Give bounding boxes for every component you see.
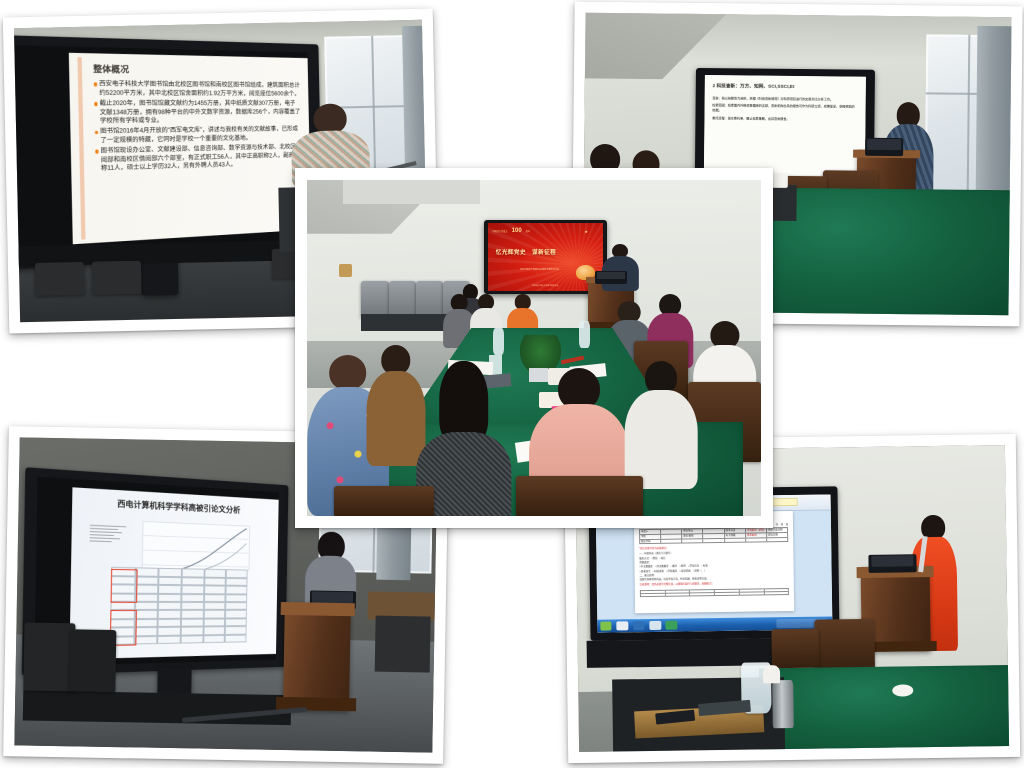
slide-footer: 西安电子科技大学图书馆党总支 [488,284,603,287]
ceiling-soffit [343,180,479,204]
chart-legend [89,522,130,567]
slide-bullet-text: 图书馆现设办公室、文献建设部、信息咨询部、数字资源与技术部、北校区借阅部和南校区… [100,144,301,173]
chart-curve-icon [142,522,248,570]
slide-org-mark: 中国共产党成立 [492,229,507,233]
slide-bullet: 截止2020年，图书馆馆藏文献约为1455万册，其中纸质文献307万册，电子文献… [94,100,301,125]
slide-anniversary-number: 100 [512,228,522,234]
water-bottle [579,321,590,348]
presenter-laptop [865,138,904,156]
slide-bullet: 图书馆2016年4月开放的"西军电文库"，讲述与我校有关的文献故事，已形成了一定… [94,126,301,145]
slide-headline: 忆光辉党史 谋新征程 [496,248,595,256]
form-table: 申请人 所在单位 联系电话 申请类别（必填） 期望完成日期 [639,527,789,545]
slide-anniversary-suffix: 周年 [526,229,530,233]
slide-bullet-text: 图书馆2016年4月开放的"西军电文库"，讲述与我校有关的文献故事，已形成了一定… [100,126,301,145]
tissue [763,665,780,683]
bullet-dot-icon [94,102,97,105]
slide-bullet: 西安电子科技大学图书馆由北校区图书馆和南校区图书馆组成，建筑面积总计约52200… [93,80,300,98]
photo-center-party-history-meeting[interactable]: 中国共产党成立 100 周年 ★ 忆光辉党史 谋新征程 庆祝中国共产党成立100… [295,168,773,528]
lectern [283,602,352,711]
bullet-dot-icon [94,130,97,133]
document-red-note: *带红色星号的为必填项目 [639,544,788,550]
stacked-chair [24,622,75,691]
slide-bullet-text: 西安电子科技大学图书馆由北校区图书馆和南校区图书馆组成，建筑面积总计约52200… [99,80,300,97]
attendee-figure [625,361,698,489]
wall-display: 整体概况 西安电子科技大学图书馆由北校区图书馆和南校区图书馆组成，建筑面积总计约… [14,35,323,270]
conference-table [759,665,1010,752]
attendee-torso [625,390,698,490]
taskbar-icon[interactable] [649,621,661,630]
bullet-dot-icon [95,150,98,153]
waiting-chair [389,281,416,318]
bullet-dot-icon [93,82,96,85]
presenter-laptop [869,555,917,574]
slide-bullet-text: 委托流程：提交委托单，确认检索策略，出具查新报告。 [712,116,857,122]
photo-center-content: 中国共产党成立 100 周年 ★ 忆光辉党史 谋新征程 庆祝中国共产党成立100… [307,180,761,516]
slide-library-overview: 整体概况 西安电子科技大学图书馆由北校区图书馆和南校区图书馆组成，建筑面积总计约… [69,53,311,244]
conference-chair [771,628,819,668]
speaker-laptop [595,271,627,284]
waiting-chair [361,281,388,318]
stacked-chair [35,262,85,295]
highlight-box [110,569,137,603]
wall-sconce-icon [339,264,353,277]
party-emblem-icon: ★ [584,229,588,234]
attendee-head [329,355,367,390]
conference-chair [516,476,643,516]
stacked-chair [70,629,117,691]
water-bottle [493,328,504,355]
slide-header: 中国共产党成立 100 周年 [492,228,530,234]
document-section: 注意事项：请务必填写完整信息，以便我们及时与您联系，谢谢配合！ [640,581,789,587]
slide-bullet-text: 检索范围：检索国内外相关数据库的文献，查新机构出具的报告可作为科研立项、成果鉴定… [712,104,857,115]
conference-chair [814,618,875,673]
thermos-flask [772,680,794,728]
taskbar-icon[interactable] [633,621,645,630]
slide-title: 整体概况 [93,63,300,78]
taskbar-icon[interactable] [616,621,628,630]
taskbar-icon[interactable] [666,621,678,630]
slide-database-retrieval: 2 科技查新：万方、知网、SCI,SSCI,EI 查新：指以新颖性为目的，依据《… [704,75,866,179]
slide-subtitle: 庆祝中国共产党成立100周年主题党日活动 [499,268,580,271]
start-button[interactable] [600,622,612,631]
slide-bullet: 图书馆现设办公室、文献建设部、信息咨询部、数字资源与技术部、北校区借阅部和南校区… [95,144,302,174]
collage-canvas: 整体概况 西安电子科技大学图书馆由北校区图书馆和南校区图书馆组成，建筑面积总计约… [0,0,1024,768]
conference-chair [334,486,434,516]
slide-title: 西电计算机科学学科高被引论文分析 [81,496,271,517]
line-chart [141,521,249,570]
waiting-chair [416,281,443,318]
stacked-chair [92,261,142,294]
slide-bullet-text: 截止2020年，图书馆馆藏文献约为1455万册，其中纸质文献307万册，电子文献… [99,100,300,125]
window-curtain [975,26,1011,205]
form-footer-table [640,588,790,597]
slide-bullet-text: 查新：指以新颖性为目的，依据《科技查新规范》对科研项目进行的文献对比分析工作。 [712,96,857,102]
slide-title: 2 科技查新：万方、知网、SCI,SSCI,EI [713,83,858,91]
